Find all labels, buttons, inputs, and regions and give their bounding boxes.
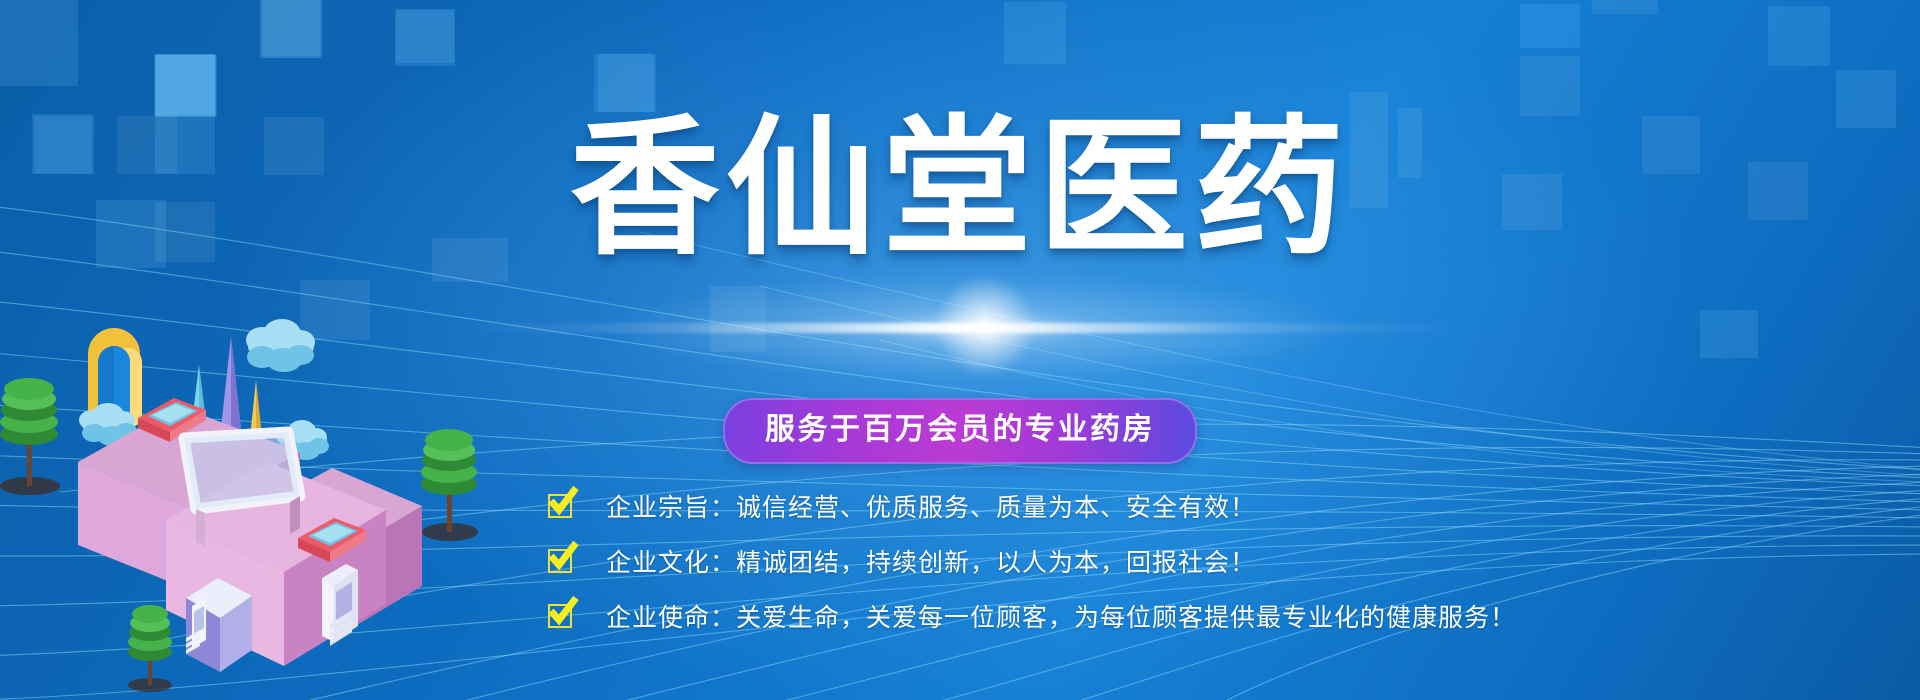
list-item-label: 企业文化：精诚团结，持续创新，以人为本，回报社会！ — [606, 543, 1256, 579]
yellow-check-icon — [546, 544, 580, 578]
list-item-label: 企业宗旨：诚信经营、优质服务、质量为本、安全有效！ — [606, 488, 1256, 524]
list-item: 企业使命：关爱生命，关爱每一位顾客，为每位顾客提供最专业化的健康服务！ — [546, 588, 1516, 643]
banner-content: 香仙堂医药 服务于百万会员的专业药房 企业宗旨：诚信经营、优质服务、质量为本、安… — [0, 0, 1920, 700]
tagline-badge-wrapper: 服务于百万会员的专业药房 — [0, 398, 1920, 464]
yellow-check-icon — [546, 489, 580, 523]
list-item: 企业宗旨：诚信经营、优质服务、质量为本、安全有效！ — [546, 478, 1516, 533]
bullet-list: 企业宗旨：诚信经营、优质服务、质量为本、安全有效！ 企业文化：精诚团结，持续创新… — [546, 478, 1516, 643]
tagline-badge: 服务于百万会员的专业药房 — [723, 398, 1197, 464]
yellow-check-icon — [546, 599, 580, 633]
list-item-label: 企业使命：关爱生命，关爱每一位顾客，为每位顾客提供最专业化的健康服务！ — [606, 598, 1516, 634]
list-item: 企业文化：精诚团结，持续创新，以人为本，回报社会！ — [546, 533, 1516, 588]
page-title: 香仙堂医药 — [0, 104, 1920, 272]
promotional-banner: 香仙堂医药 服务于百万会员的专业药房 企业宗旨：诚信经营、优质服务、质量为本、安… — [0, 0, 1920, 700]
